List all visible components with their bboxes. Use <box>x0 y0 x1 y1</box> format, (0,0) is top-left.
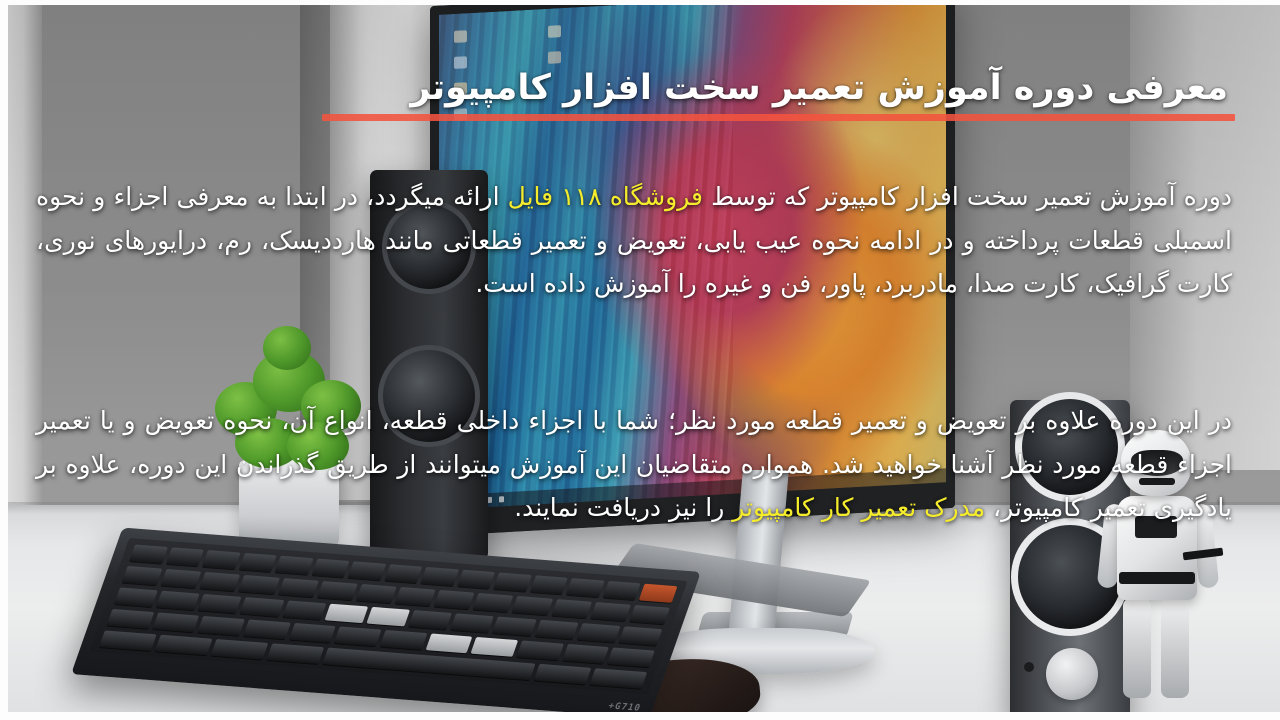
keyboard-key <box>166 547 204 566</box>
keyboard-key <box>161 569 202 588</box>
keyboard-key <box>152 612 199 632</box>
keyboard-key <box>266 643 324 664</box>
keyboard-key <box>122 566 163 585</box>
keyboard-key <box>155 635 213 656</box>
keyboard-key <box>275 556 313 575</box>
keyboard-key <box>471 637 518 657</box>
figurine-leg <box>1161 598 1189 698</box>
keyboard-key <box>243 619 290 639</box>
keyboard-key <box>106 609 153 629</box>
desktop-icon <box>548 25 561 38</box>
keyboard-key <box>380 630 427 650</box>
paragraph-1-text-a: دوره آموزش تعمیر سخت افزار کامپیوتر که ت… <box>703 182 1232 211</box>
page-title: معرفی دوره آموزش تعمیر سخت افزار کامپیوت… <box>300 67 1228 111</box>
keyboard-key <box>348 561 386 580</box>
keyboard-key <box>334 626 381 646</box>
keyboard-key <box>562 644 609 664</box>
keyboard-key <box>516 640 563 660</box>
keyboard-key <box>356 584 397 603</box>
keyboard-key <box>434 590 475 609</box>
keyboard-key <box>530 575 568 594</box>
keyboard-key <box>129 545 167 564</box>
plant-leaf <box>263 326 311 370</box>
keyboard-key <box>282 600 326 620</box>
keyboard-key <box>202 550 240 569</box>
speaker-volume-knob <box>1046 648 1098 700</box>
keyboard-key <box>457 570 495 589</box>
keyboard-key <box>239 553 277 572</box>
figurine-leg <box>1123 598 1151 698</box>
keyboard-key <box>311 559 349 578</box>
keyboard-key <box>639 584 677 603</box>
keyboard-key <box>618 626 662 646</box>
keyboard-key <box>492 617 536 637</box>
keyboard-key <box>607 648 654 668</box>
keyboard-key <box>366 607 410 627</box>
keyboard-key <box>317 581 358 600</box>
keyboard-key <box>239 575 280 594</box>
keyboard-key <box>278 578 319 597</box>
paragraph-1: دوره آموزش تعمیر سخت افزار کامپیوتر که ت… <box>36 175 1232 306</box>
keyboard-key <box>494 573 532 592</box>
keyboard-key <box>566 578 604 597</box>
keyboard-key <box>551 599 592 618</box>
paragraph-1-highlight-shop: فروشگاه ۱۱۸ فایل <box>508 182 703 211</box>
keyboard-model-badge: G710+ <box>607 701 642 713</box>
keyboard-key <box>198 616 245 636</box>
keyboard-key <box>590 602 631 621</box>
slide-root: 14:10 <box>0 0 1280 720</box>
keyboard-key <box>324 604 368 624</box>
keyboard-key <box>395 587 436 606</box>
keyboard-key <box>473 593 514 612</box>
keyboard-key <box>114 587 158 607</box>
keyboard-key <box>629 605 670 624</box>
keyboard-key <box>211 639 269 660</box>
paragraph-2-highlight-certificate: مدرک تعمیر کار کامپیوتر <box>732 493 985 522</box>
keyboard-key <box>384 564 422 583</box>
keyboard-key <box>534 620 578 640</box>
keyboard-key <box>421 567 459 586</box>
keyboard-key <box>603 581 641 600</box>
desktop-icon <box>454 30 467 43</box>
keyboard-key <box>512 596 553 615</box>
keyboard-key <box>99 630 157 651</box>
keyboard-key <box>289 623 336 643</box>
keyboard-key <box>156 591 200 611</box>
keyboard-key <box>240 597 284 617</box>
keyboard-key <box>408 610 452 630</box>
keyboard-key <box>198 594 242 614</box>
keyboard-key <box>590 668 648 689</box>
paragraph-2: در این دوره علاوه بر تعویض و تعمیر قطعه … <box>36 399 1232 530</box>
keyboard-key <box>450 613 494 633</box>
figurine-belt <box>1119 572 1195 584</box>
keyboard-key <box>200 572 241 591</box>
keyboard-key <box>576 623 620 643</box>
speaker-jack <box>1024 662 1034 672</box>
desktop-icon <box>548 51 561 64</box>
keyboard-key <box>425 633 472 653</box>
title-underline-rule <box>322 114 1235 121</box>
keyboard-key <box>534 664 592 685</box>
paragraph-2-text-b: را نیز دریافت نمایند. <box>514 493 732 522</box>
